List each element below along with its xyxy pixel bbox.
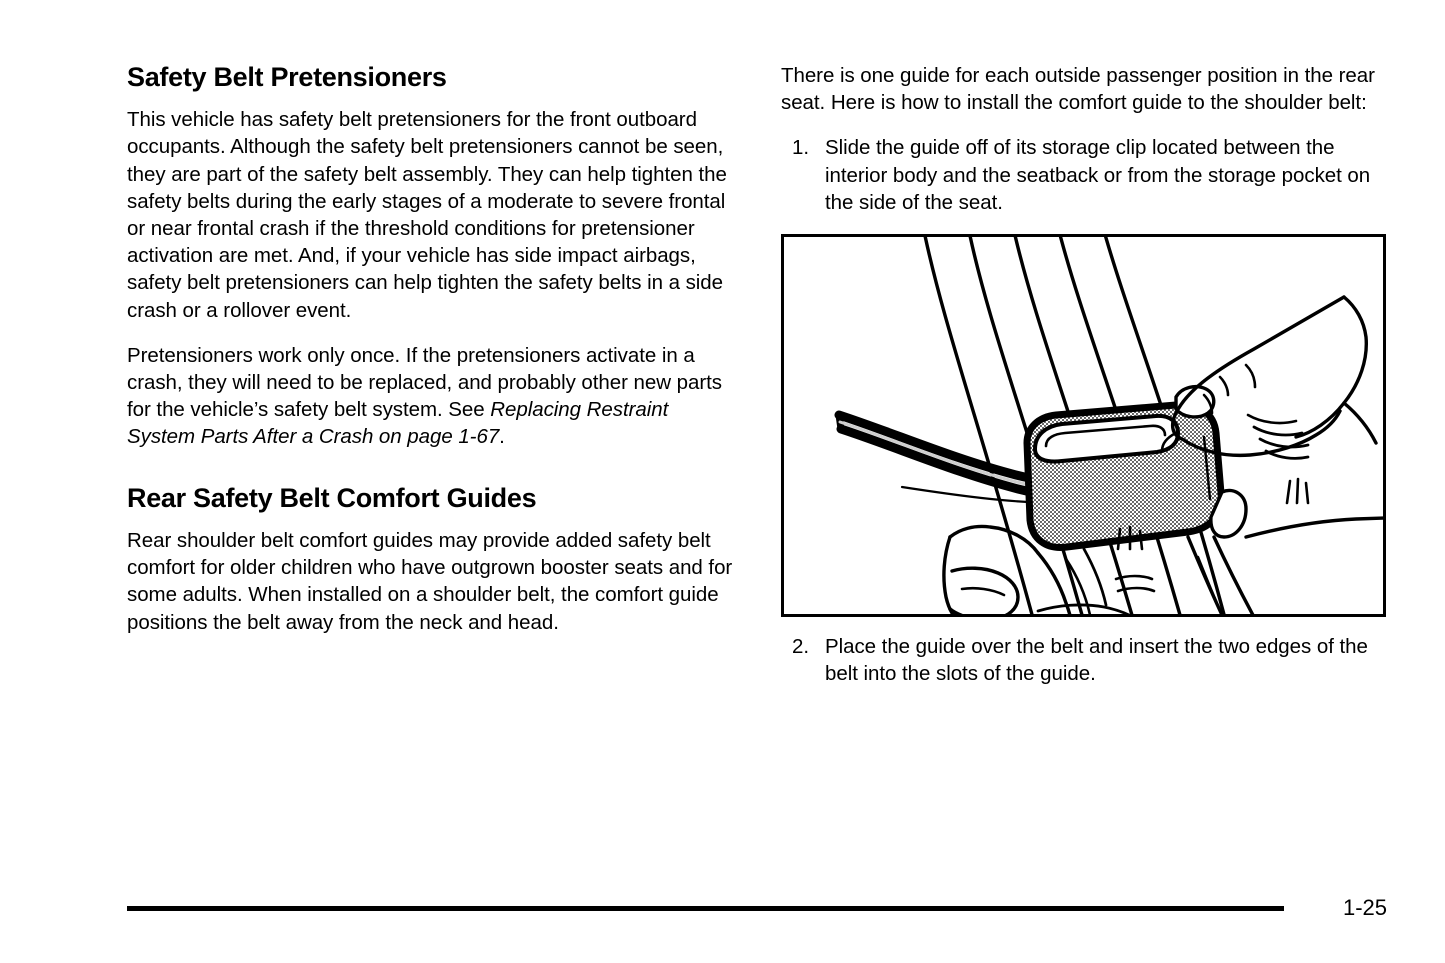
comfort-guide-installation-illustration: [781, 234, 1386, 617]
right-column: There is one guide for each outside pass…: [781, 62, 1386, 703]
figure-wrapper: [781, 234, 1386, 617]
illustration-line-art: [784, 237, 1383, 614]
footer-divider-rule: [127, 906, 1284, 911]
manual-page: Safety Belt Pretensioners This vehicle h…: [0, 0, 1445, 963]
installation-steps-list: 1.Slide the guide off of its storage cli…: [781, 134, 1386, 216]
list-item-step-1: 1.Slide the guide off of its storage cli…: [781, 134, 1386, 216]
paragraph-pretensioners-single-use: Pretensioners work only once. If the pre…: [127, 342, 739, 451]
paragraph-tail-text: .: [499, 425, 505, 448]
list-item-step-2: 2.Place the guide over the belt and inse…: [781, 633, 1386, 687]
section-title-rear-safety-belt-comfort-guides: Rear Safety Belt Comfort Guides: [127, 483, 739, 513]
paragraph-pretensioners-description: This vehicle has safety belt pretensione…: [127, 106, 739, 324]
installation-steps-list-continued: 2.Place the guide over the belt and inse…: [781, 633, 1386, 687]
left-column: Safety Belt Pretensioners This vehicle h…: [127, 62, 739, 636]
step-number: 2.: [792, 633, 820, 660]
paragraph-guide-intro: There is one guide for each outside pass…: [781, 62, 1386, 116]
step-text: Slide the guide off of its storage clip …: [825, 136, 1370, 213]
step-text: Place the guide over the belt and insert…: [825, 635, 1368, 685]
paragraph-comfort-guides-description: Rear shoulder belt comfort guides may pr…: [127, 527, 739, 636]
step-number: 1.: [792, 134, 820, 161]
page-number: 1-25: [1343, 895, 1387, 921]
page-title-safety-belt-pretensioners: Safety Belt Pretensioners: [127, 62, 739, 92]
